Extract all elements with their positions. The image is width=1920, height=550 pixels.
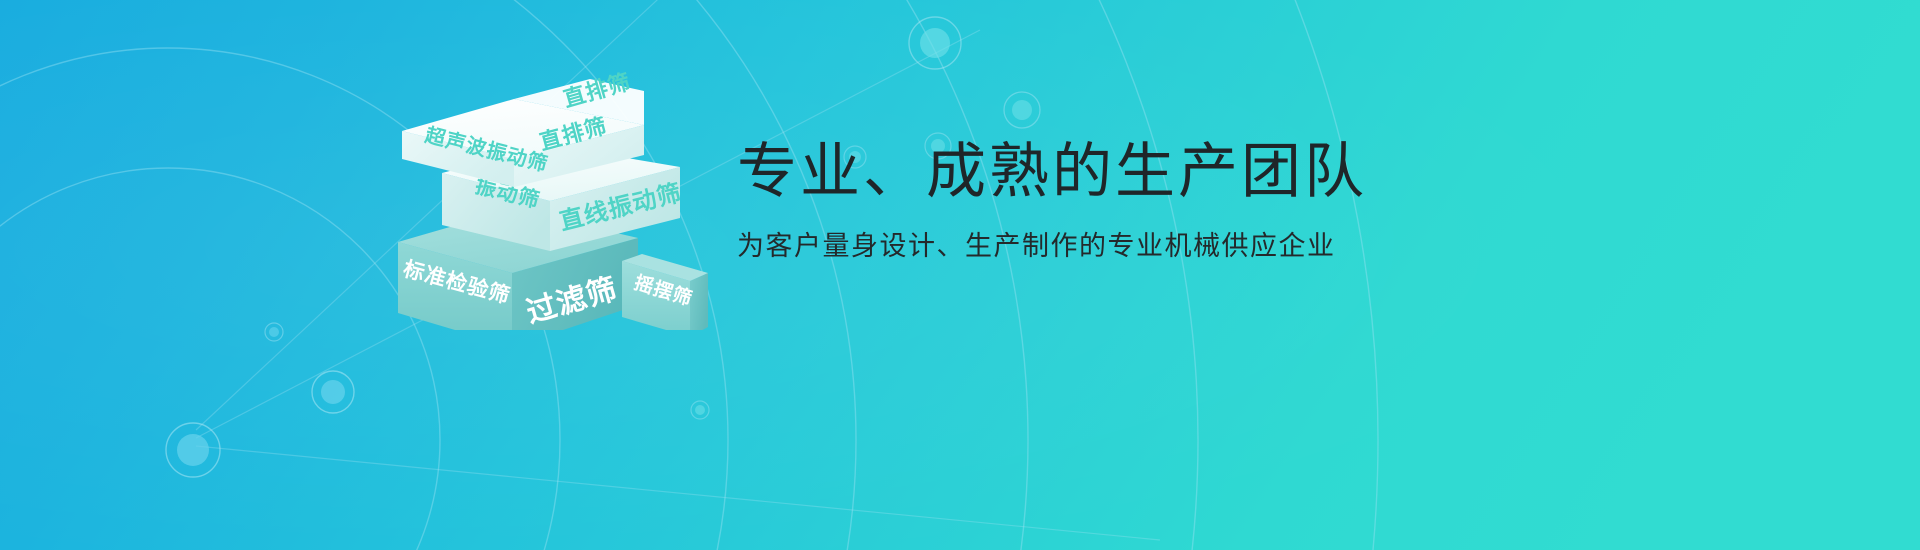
decor-node — [1004, 92, 1040, 128]
banner-headline: 专业、成熟的生产团队 — [737, 138, 1497, 205]
decor-node — [166, 423, 220, 477]
cube-face-base-side-right: 摇摆筛 — [622, 254, 708, 330]
banner-text-block: 专业、成熟的生产团队 为客户量身设计、生产制作的专业机械供应企业 — [737, 138, 1497, 264]
decor-node — [312, 371, 354, 413]
hero-banner: 标准检验筛 过滤筛 摇摆筛 — [0, 0, 1920, 550]
product-cube-illustration: 标准检验筛 过滤筛 摇摆筛 — [390, 55, 720, 330]
banner-subheadline: 为客户量身设计、生产制作的专业机械供应企业 — [737, 229, 1497, 264]
decor-node — [909, 17, 961, 69]
decor-node — [691, 401, 709, 419]
background-decoration — [0, 0, 1920, 550]
decor-node — [265, 323, 283, 341]
